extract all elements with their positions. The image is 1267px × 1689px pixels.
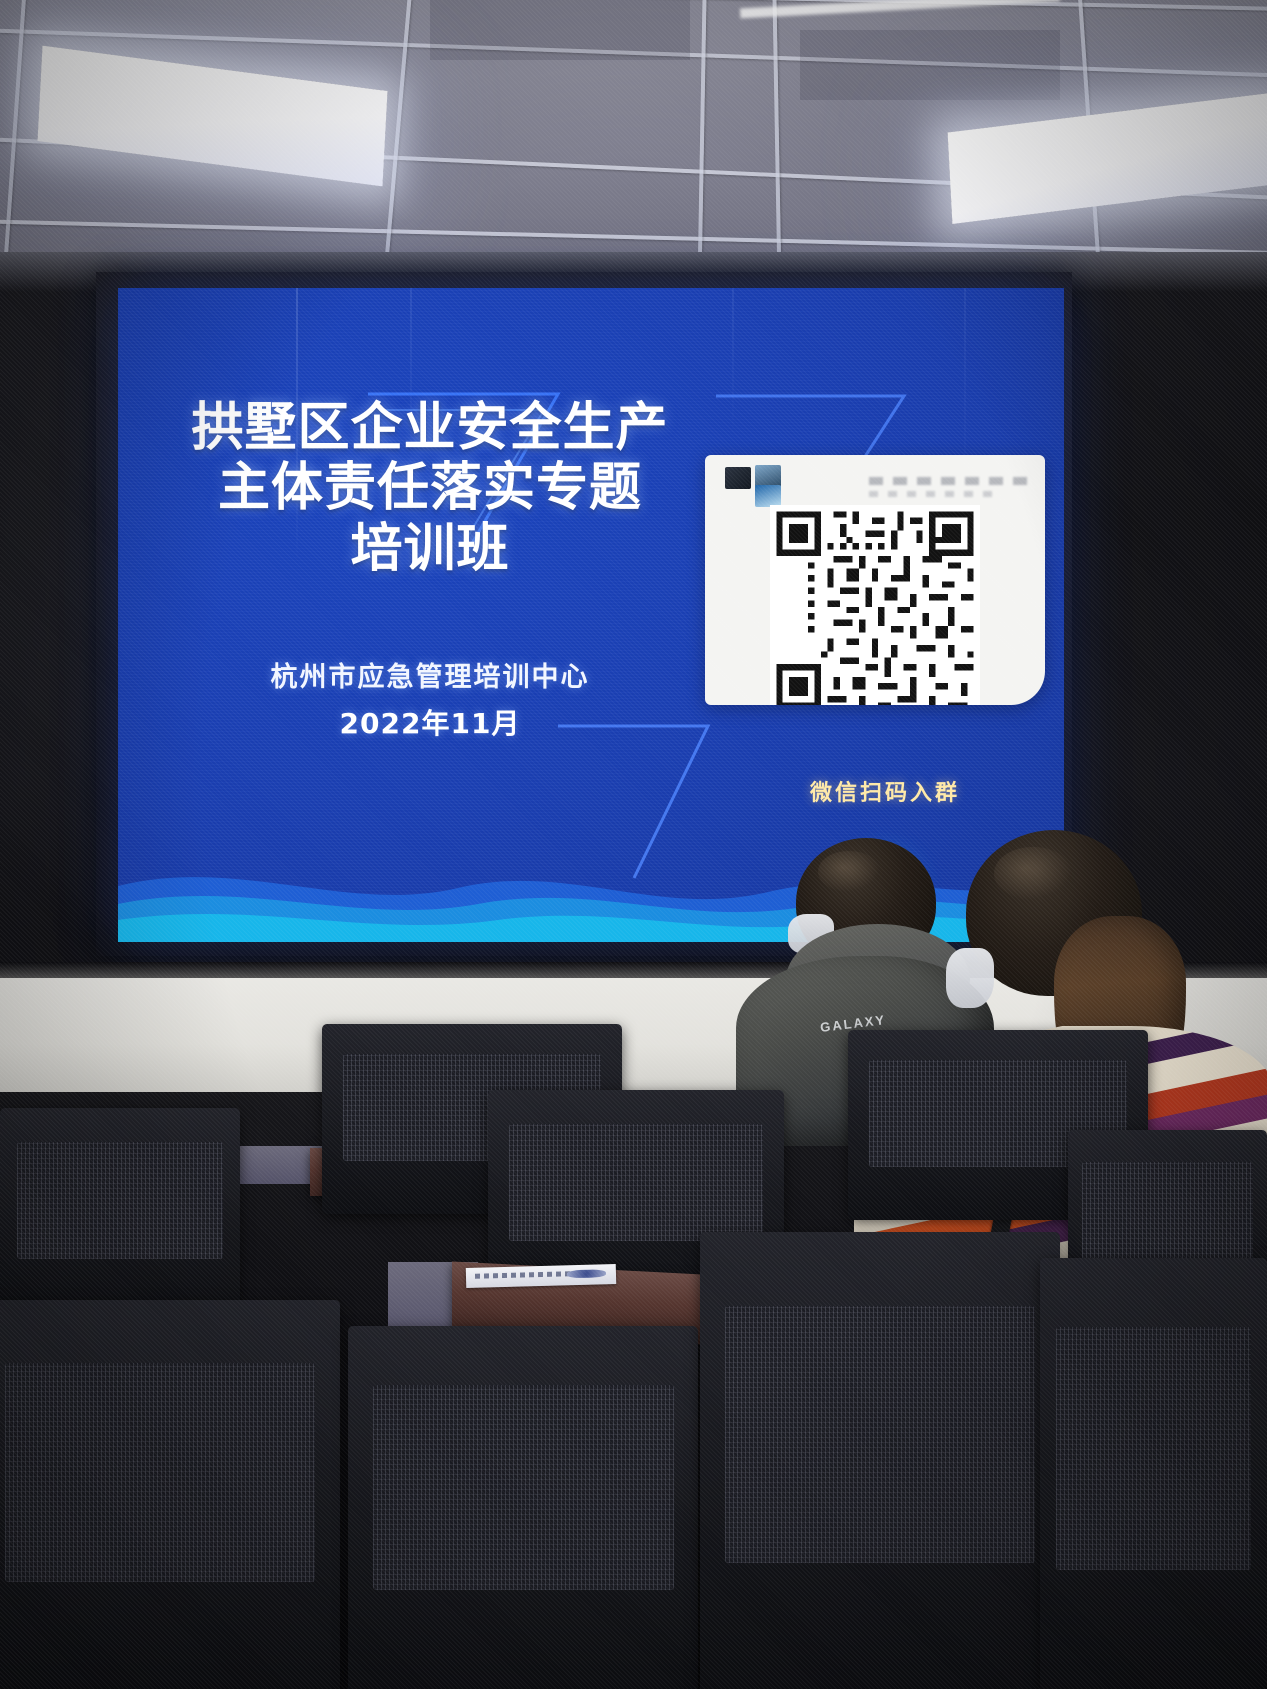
wechat-group-qr-card [705, 455, 1045, 705]
qr-caption: 微信扫码入群 [770, 775, 1000, 807]
chair-row2-left[interactable] [0, 1108, 240, 1318]
avatar-thumbnail-2 [755, 465, 781, 487]
avatar-thumbnail-3 [755, 485, 781, 507]
qr-card-subtitle-text [869, 491, 995, 497]
slide-date: 2022年11月 [180, 702, 680, 742]
chair-row1-left[interactable] [0, 1300, 340, 1689]
avatar-thumbnail-1 [725, 467, 751, 489]
classroom-photo-scene: 拱墅区企业安全生产 主体责任落实专题 培训班 杭州市应急管理培训中心 2022年… [0, 0, 1267, 1689]
ceiling [0, 0, 1267, 266]
desk-namecard-2 [466, 1264, 616, 1288]
chair-row1-center[interactable] [348, 1326, 698, 1689]
slide-organization: 杭州市应急管理培训中心 [180, 655, 680, 694]
qr-card-title-text [869, 477, 1029, 485]
qr-code-icon [755, 505, 995, 705]
slide-title: 拱墅区企业安全生产 主体责任落实专题 培训班 [140, 398, 720, 579]
woman-face-mask [946, 948, 994, 1008]
chair-row1-right[interactable] [700, 1232, 1060, 1689]
chair-row1-far-right[interactable] [1040, 1258, 1267, 1689]
qr-card-header [719, 465, 1035, 505]
